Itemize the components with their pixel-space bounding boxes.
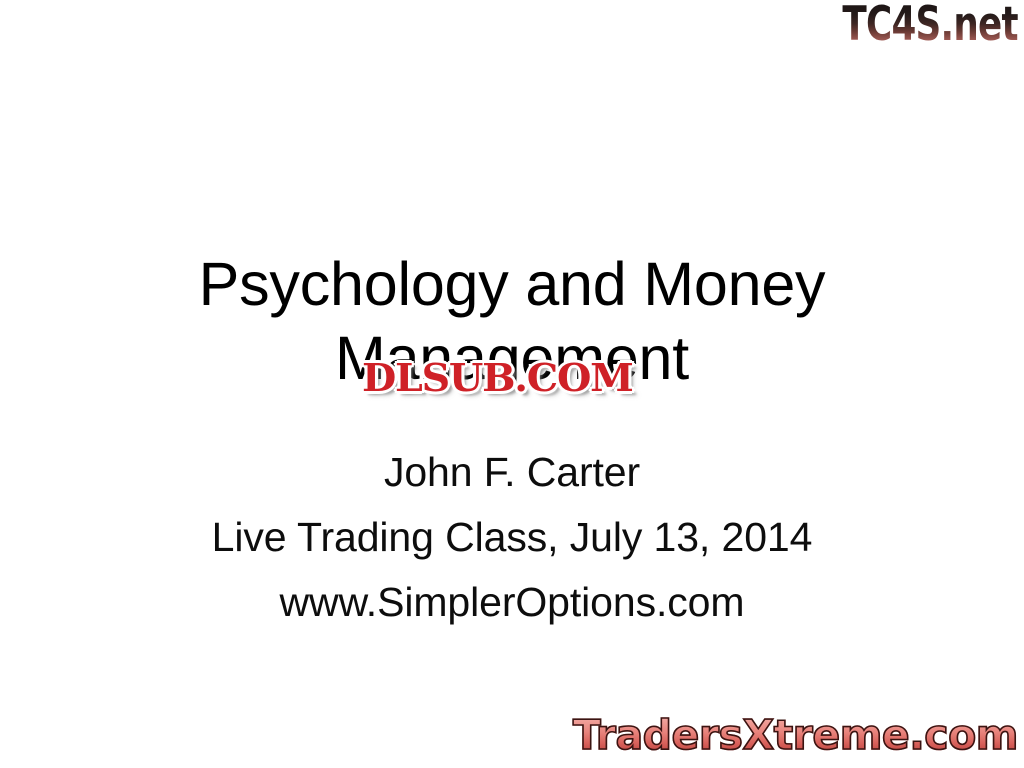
subtitle-line-presenter: John F. Carter — [0, 440, 1024, 505]
watermark-tc4s-text: TC4S.net — [843, 1, 1018, 48]
watermark-tradersxtreme: TradersXtreme.com TradersXtreme.com — [573, 715, 1018, 756]
slide-subtitle: John F. Carter Live Trading Class, July … — [0, 440, 1024, 635]
subtitle-line-class-date: Live Trading Class, July 13, 2014 — [0, 505, 1024, 570]
slide-title-line-1: Psychology and Money — [0, 247, 1024, 321]
watermark-tradersxtreme-text: TradersXtreme.com — [573, 715, 1018, 756]
slide-title-line-2: Management — [0, 321, 1024, 395]
watermark-tradersxtreme-glow: TradersXtreme.com — [573, 715, 1018, 756]
watermark-tc4s: TC4S.net — [787, 1, 1018, 48]
slide-title: Psychology and Money Management — [0, 247, 1024, 395]
subtitle-line-website: www.SimplerOptions.com — [0, 570, 1024, 635]
presentation-slide: Psychology and Money Management John F. … — [0, 0, 1024, 768]
